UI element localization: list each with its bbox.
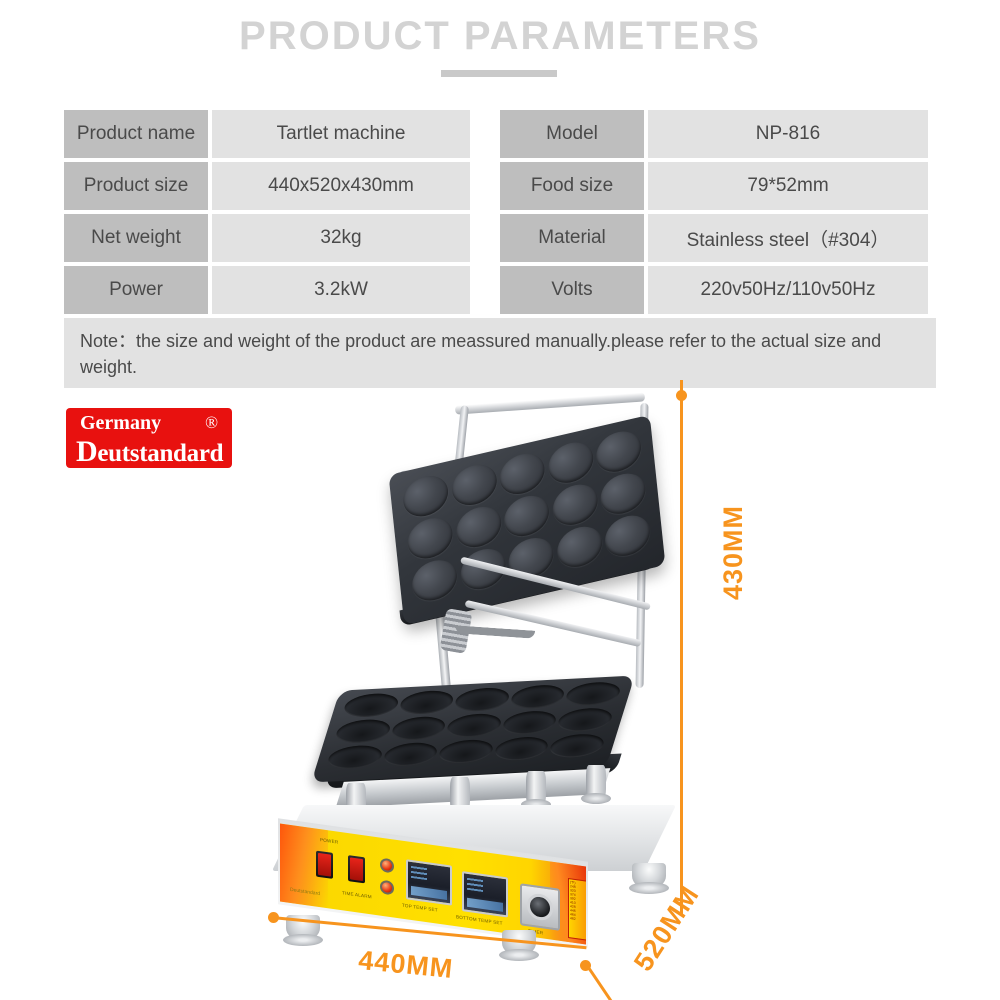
mold-cavity xyxy=(341,692,401,718)
logo-deutstandard-text: Deutstandard xyxy=(76,435,223,469)
temp-f: 482 xyxy=(570,916,576,921)
mold-cavity xyxy=(325,744,385,770)
spec-note: Note：the size and weight of the product … xyxy=(64,318,936,388)
power-switch[interactable] xyxy=(316,851,333,879)
spec-value-material: Stainless steel（#304） xyxy=(648,214,928,262)
spec-label-power: Power xyxy=(64,266,208,314)
product-photo: POWER TIME ALARM TOP TEMP SET BOTTOM TEM… xyxy=(250,385,690,975)
spec-label-food-size: Food size xyxy=(500,162,644,210)
mold-bump xyxy=(448,459,500,512)
mold-cavity xyxy=(547,733,607,759)
mold-bump xyxy=(404,512,456,565)
mold-cavity xyxy=(444,713,504,739)
spec-value-model: NP-816 xyxy=(648,110,928,158)
temp-chart-row: 482250 xyxy=(570,916,586,925)
bottom-temp-display[interactable] xyxy=(462,871,508,917)
spec-value-net-weight: 32kg xyxy=(212,214,470,262)
mold-bump xyxy=(500,489,552,542)
spec-label-net-weight: Net weight xyxy=(64,214,208,262)
time-alarm-label: TIME ALARM xyxy=(342,890,372,899)
mold-cavity xyxy=(381,741,441,767)
lower-mold-grid xyxy=(325,681,623,770)
bottom-temp-set-label: BOTTOM TEMP SET xyxy=(456,914,503,926)
mold-cavity xyxy=(452,687,512,713)
mold-cavity xyxy=(492,736,552,762)
dimension-label-height: 430MM xyxy=(718,505,749,600)
timer-knob[interactable] xyxy=(520,883,560,931)
registered-mark-icon: ® xyxy=(205,413,218,433)
title-divider xyxy=(441,70,557,77)
top-temp-set-label: TOP TEMP SET xyxy=(402,903,438,913)
logo-germany-text: Germany xyxy=(80,412,161,435)
dimension-line-height xyxy=(680,396,683,916)
product-parameters-page: PRODUCT PARAMETERS Product name Tartlet … xyxy=(0,0,1000,1000)
mold-bump xyxy=(601,509,653,562)
column-gap xyxy=(474,162,496,210)
spec-label-material: Material xyxy=(500,214,644,262)
mold-bump xyxy=(597,467,649,520)
upper-mold-grid xyxy=(397,423,656,610)
column-gap xyxy=(474,214,496,262)
spec-value-power: 3.2kW xyxy=(212,266,470,314)
mold-bump xyxy=(408,554,460,607)
mold-cavity xyxy=(389,716,449,742)
dimension-dot-width-left xyxy=(268,912,279,923)
table-row: Net weight 32kg Material Stainless steel… xyxy=(64,214,936,262)
plate-riser xyxy=(526,771,546,805)
mold-cavity xyxy=(508,684,568,710)
germany-deutstandard-logo: Germany ® Deutstandard xyxy=(66,408,232,468)
mold-cavity xyxy=(436,739,496,765)
mold-cavity xyxy=(563,681,623,707)
spec-label-volts: Volts xyxy=(500,266,644,314)
frame-brace-lower xyxy=(465,600,642,647)
spec-value-product-name: Tartlet machine xyxy=(212,110,470,158)
mold-cavity xyxy=(397,690,457,716)
logo-rest-letters: eutstandard xyxy=(97,440,223,467)
column-gap xyxy=(474,266,496,314)
spec-label-product-name: Product name xyxy=(64,110,208,158)
indicator-lamp-bottom xyxy=(380,880,394,896)
mold-bump xyxy=(553,520,605,573)
logo-cap-letter: D xyxy=(76,435,97,468)
spec-label-product-size: Product size xyxy=(64,162,208,210)
mold-cavity xyxy=(500,710,560,736)
column-gap xyxy=(474,110,496,158)
time-alarm-switch[interactable] xyxy=(348,855,365,883)
timer-dial-icon xyxy=(527,892,553,922)
spec-table: Product name Tartlet machine Model NP-81… xyxy=(64,110,936,318)
mold-bump xyxy=(399,470,451,523)
indicator-lamp-top xyxy=(380,858,394,874)
mold-bump xyxy=(452,501,504,554)
machine-foot xyxy=(632,863,666,889)
spec-value-volts: 220v50Hz/110v50Hz xyxy=(648,266,928,314)
table-row: Product size 440x520x430mm Food size 79*… xyxy=(64,162,936,210)
mold-cavity xyxy=(555,707,615,733)
mold-bump xyxy=(549,478,601,531)
spec-value-product-size: 440x520x430mm xyxy=(212,162,470,210)
spec-label-model: Model xyxy=(500,110,644,158)
dimension-tick-top xyxy=(680,380,683,396)
table-row: Power 3.2kW Volts 220v50Hz/110v50Hz xyxy=(64,266,936,314)
mold-bump xyxy=(544,436,596,489)
page-title: PRODUCT PARAMETERS xyxy=(0,14,1000,59)
upper-mold-plate xyxy=(389,415,666,626)
table-row: Product name Tartlet machine Model NP-81… xyxy=(64,110,936,158)
dimension-dot-corner xyxy=(580,960,591,971)
temperature-conversion-chart: (℉) (℃) 248120 320160 374190 392200 4102… xyxy=(568,878,586,944)
spec-value-food-size: 79*52mm xyxy=(648,162,928,210)
top-temp-display[interactable] xyxy=(406,859,452,905)
mold-cavity xyxy=(333,718,393,744)
mold-bump xyxy=(593,425,645,478)
mold-bump xyxy=(496,447,548,500)
handle-bar xyxy=(455,392,645,414)
plate-riser xyxy=(586,765,606,799)
